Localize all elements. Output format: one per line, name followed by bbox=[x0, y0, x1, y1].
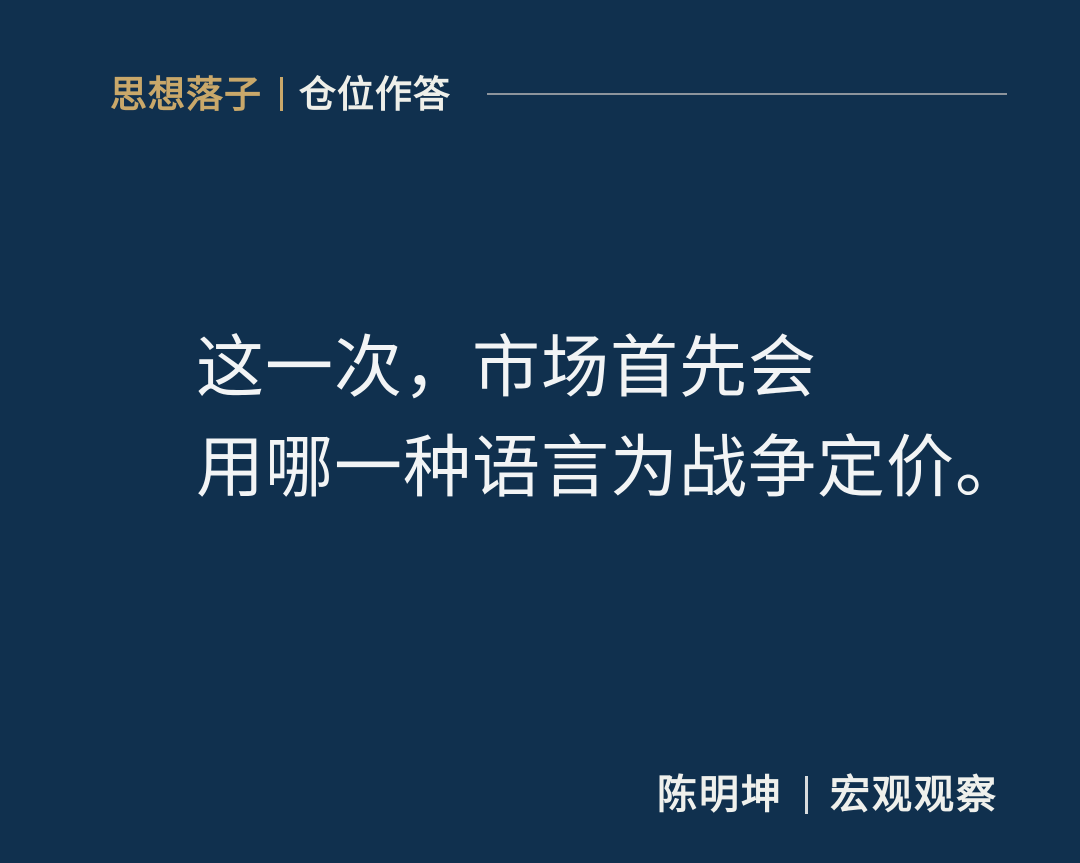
quote-text-block: 这一次，市场首先会 用哪一种语言为战争定价。 bbox=[196, 318, 996, 518]
quote-line-1: 这一次，市场首先会 bbox=[196, 318, 996, 418]
brand-secondary-label: 仓位作答 bbox=[299, 76, 451, 113]
footer-author-label: 陈明坤 bbox=[657, 775, 783, 815]
brand-primary-label: 思想落子 bbox=[110, 76, 262, 113]
footer-attribution: 陈明坤 宏观观察 bbox=[657, 775, 998, 815]
brand-separator-icon bbox=[280, 77, 283, 111]
header-brand-bar: 思想落子 仓位作答 bbox=[110, 70, 1080, 118]
quote-card-slide: 思想落子 仓位作答 这一次，市场首先会 用哪一种语言为战争定价。 陈明坤 宏观观… bbox=[0, 0, 1080, 863]
footer-separator-icon bbox=[805, 776, 808, 814]
quote-line-2: 用哪一种语言为战争定价。 bbox=[196, 418, 996, 518]
header-divider-rule bbox=[487, 93, 1007, 95]
footer-column-label: 宏观观察 bbox=[830, 775, 998, 815]
